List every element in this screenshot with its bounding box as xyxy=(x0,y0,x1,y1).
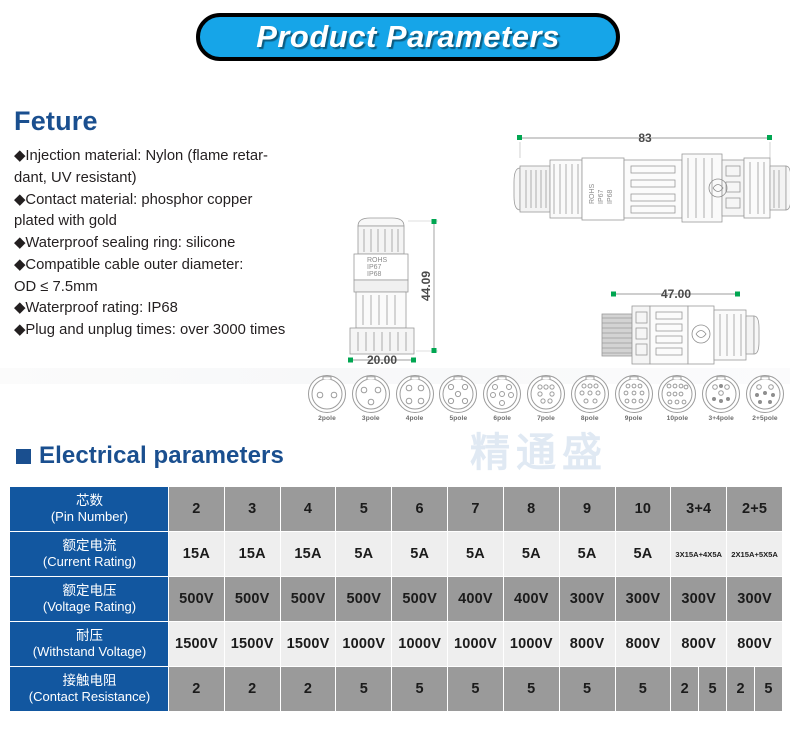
table-cell: 1000V xyxy=(448,622,504,667)
feature-line: ◆Compatible cable outer diameter: xyxy=(14,255,344,277)
svg-text:ROHS: ROHS xyxy=(589,183,596,204)
table-cell: 400V xyxy=(503,577,559,622)
pin-layout-item: 7pole xyxy=(525,374,567,422)
table-cell: 300V xyxy=(671,577,727,622)
svg-text:IP67: IP67 xyxy=(367,264,382,271)
pin-layout-item: 4pole xyxy=(394,374,436,422)
dimension-length-83: 83 xyxy=(638,131,652,145)
table-cell: 800V xyxy=(671,622,727,667)
drawing-vertical-connector: 44.09 20.00 ROHS IP67 IP68 xyxy=(330,196,458,366)
table-cell: 2 xyxy=(224,667,280,712)
square-bullet-icon xyxy=(16,449,31,464)
electrical-parameters-heading: Electrical parameters xyxy=(16,442,284,470)
dimension-width-20: 20.00 xyxy=(367,353,397,366)
table-cell: 10 xyxy=(615,487,671,532)
row-label-cn: 耐压 xyxy=(11,628,168,644)
row-label-voltage-rating: 额定电压 (Voltage Rating) xyxy=(11,577,169,622)
pin-layout-item: 8pole xyxy=(569,374,611,422)
table-cell: 15A xyxy=(169,532,225,577)
connector-face-icon xyxy=(745,374,785,414)
row-label-cn: 额定电压 xyxy=(11,583,168,599)
table-cell: 2+5 xyxy=(727,487,783,532)
table-cell: 5 xyxy=(503,667,559,712)
pin-layout-label: 3+4pole xyxy=(708,415,733,422)
dimension-length-47: 47.00 xyxy=(661,287,691,301)
svg-text:IP67: IP67 xyxy=(598,189,605,204)
table-cell: 5A xyxy=(392,532,448,577)
table-cell: 3 xyxy=(224,487,280,532)
table-subcell: 5 xyxy=(754,667,782,711)
table-cell: 15A xyxy=(280,532,336,577)
table-cell: 5A xyxy=(559,532,615,577)
pin-layout-label: 2+5pole xyxy=(752,415,777,422)
table-cell-split: 2 5 xyxy=(671,667,727,712)
feature-line: ◆Waterproof sealing ring: silicone xyxy=(14,233,344,255)
page-title: Product Parameters xyxy=(256,19,560,55)
table-cell: 1000V xyxy=(503,622,559,667)
pin-layout-item: 6pole xyxy=(481,374,523,422)
feature-heading: Feture xyxy=(14,106,344,137)
table-cell: 3+4 xyxy=(671,487,727,532)
pin-layout-item: 3pole xyxy=(350,374,392,422)
pin-layout-item: 3+4pole xyxy=(700,374,742,422)
table-cell: 300V xyxy=(559,577,615,622)
connector-face-icon xyxy=(395,374,435,414)
pin-layout-label: 6pole xyxy=(493,415,511,422)
electrical-parameters-title: Electrical parameters xyxy=(39,442,284,470)
drawing-assembled-connector: 83 ROHS IP67 IP68 xyxy=(502,116,790,226)
svg-text:IP68: IP68 xyxy=(607,189,614,204)
table-cell: 5 xyxy=(336,487,392,532)
table-cell: 5 xyxy=(559,667,615,712)
connector-face-icon xyxy=(570,374,610,414)
connector-face-icon xyxy=(307,374,347,414)
table-cell: 5A xyxy=(615,532,671,577)
connector-face-icon xyxy=(657,374,697,414)
pin-layout-label: 7pole xyxy=(537,415,555,422)
pin-layout-item: 10pole xyxy=(656,374,698,422)
table-cell: 15A xyxy=(224,532,280,577)
pin-layout-item: 2+5pole xyxy=(744,374,786,422)
connector-face-icon xyxy=(351,374,391,414)
table-cell: 2 xyxy=(280,667,336,712)
connector-face-icon xyxy=(526,374,566,414)
table-cell: 300V xyxy=(615,577,671,622)
table-cell: 500V xyxy=(169,577,225,622)
row-label-en: (Current Rating) xyxy=(11,554,168,570)
table-cell: 500V xyxy=(280,577,336,622)
table-cell: 500V xyxy=(392,577,448,622)
electrical-parameters-table: 芯数 (Pin Number) 2 3 4 5 6 7 8 9 10 3+4 2… xyxy=(10,486,783,712)
row-label-en: (Voltage Rating) xyxy=(11,599,168,615)
row-label-pin-number: 芯数 (Pin Number) xyxy=(11,487,169,532)
row-label-current-rating: 额定电流 (Current Rating) xyxy=(11,532,169,577)
page-title-banner: Product Parameters xyxy=(196,13,620,61)
table-cell-split: 2 5 xyxy=(727,667,783,712)
connector-face-icon xyxy=(482,374,522,414)
row-label-cn: 接触电阻 xyxy=(11,673,168,689)
pin-layout-label: 8pole xyxy=(581,415,599,422)
table-cell: 5 xyxy=(615,667,671,712)
table-cell: 800V xyxy=(727,622,783,667)
table-cell: 7 xyxy=(448,487,504,532)
table-cell: 2 xyxy=(169,487,225,532)
table-row: 芯数 (Pin Number) 2 3 4 5 6 7 8 9 10 3+4 2… xyxy=(11,487,783,532)
table-cell: 800V xyxy=(615,622,671,667)
pin-layout-label: 2pole xyxy=(318,415,336,422)
table-row: 耐压 (Withstand Voltage) 1500V 1500V 1500V… xyxy=(11,622,783,667)
table-cell: 500V xyxy=(336,577,392,622)
connector-face-icon xyxy=(701,374,741,414)
table-row: 额定电流 (Current Rating) 15A 15A 15A 5A 5A … xyxy=(11,532,783,577)
connector-face-icon xyxy=(614,374,654,414)
table-cell: 1500V xyxy=(169,622,225,667)
table-cell: 1000V xyxy=(392,622,448,667)
row-label-cn: 芯数 xyxy=(11,493,168,509)
table-row: 额定电压 (Voltage Rating) 500V 500V 500V 500… xyxy=(11,577,783,622)
row-label-en: (Contact Resistance) xyxy=(11,689,168,705)
svg-text:IP68: IP68 xyxy=(367,271,382,278)
table-subcell: 2 xyxy=(727,667,754,711)
feature-line: OD ≤ 7.5mm xyxy=(14,277,344,299)
feature-line: dant, UV resistant) xyxy=(14,168,344,190)
table-cell: 5 xyxy=(448,667,504,712)
table-cell: 2 xyxy=(169,667,225,712)
pin-layout-label: 5pole xyxy=(450,415,468,422)
drawing-male-connector: 47.00 xyxy=(600,276,790,368)
table-cell: 1500V xyxy=(280,622,336,667)
row-label-withstand-voltage: 耐压 (Withstand Voltage) xyxy=(11,622,169,667)
svg-text:ROHS: ROHS xyxy=(367,257,388,264)
table-cell: 500V xyxy=(224,577,280,622)
feature-line: plated with gold xyxy=(14,211,344,233)
pin-layout-label: 4pole xyxy=(406,415,424,422)
table-cell: 1000V xyxy=(336,622,392,667)
table-cell: 2X15A+5X5A xyxy=(727,532,783,577)
table-cell: 5 xyxy=(392,667,448,712)
pin-layout-label: 3pole xyxy=(362,415,380,422)
table-cell: 6 xyxy=(392,487,448,532)
table-cell: 5A xyxy=(503,532,559,577)
table-row: 接触电阻 (Contact Resistance) 2 2 2 5 5 5 5 … xyxy=(11,667,783,712)
table-cell: 1500V xyxy=(224,622,280,667)
table-cell: 5 xyxy=(336,667,392,712)
table-subcell: 2 xyxy=(671,667,698,711)
feature-line: ◆Injection material: Nylon (flame retar- xyxy=(14,146,344,168)
pin-layout-label: 10pole xyxy=(667,415,689,422)
feature-line: ◆Plug and unplug times: over 3000 times xyxy=(14,320,344,342)
table-cell: 5A xyxy=(448,532,504,577)
row-label-cn: 额定电流 xyxy=(11,538,168,554)
pin-layout-label: 9pole xyxy=(625,415,643,422)
table-cell: 9 xyxy=(559,487,615,532)
row-label-contact-resistance: 接触电阻 (Contact Resistance) xyxy=(11,667,169,712)
pin-layout-item: 5pole xyxy=(437,374,479,422)
feature-line: ◆Contact material: phosphor copper xyxy=(14,190,344,212)
row-label-en: (Withstand Voltage) xyxy=(11,644,168,660)
table-subcell: 5 xyxy=(698,667,726,711)
table-cell: 400V xyxy=(448,577,504,622)
table-cell: 800V xyxy=(559,622,615,667)
feature-section: Feture ◆Injection material: Nylon (flame… xyxy=(14,106,344,342)
table-cell: 300V xyxy=(727,577,783,622)
feature-line: ◆Waterproof rating: IP68 xyxy=(14,298,344,320)
pin-layout-item: 9pole xyxy=(613,374,655,422)
connector-face-icon xyxy=(438,374,478,414)
table-cell: 4 xyxy=(280,487,336,532)
table-cell: 5A xyxy=(336,532,392,577)
pin-layout-strip: 2pole 3pole 4pole xyxy=(306,374,786,440)
table-cell: 3X15A+4X5A xyxy=(671,532,727,577)
dimension-height-44: 44.09 xyxy=(419,271,433,301)
pin-layout-item: 2pole xyxy=(306,374,348,422)
row-label-en: (Pin Number) xyxy=(11,509,168,525)
table-cell: 8 xyxy=(503,487,559,532)
